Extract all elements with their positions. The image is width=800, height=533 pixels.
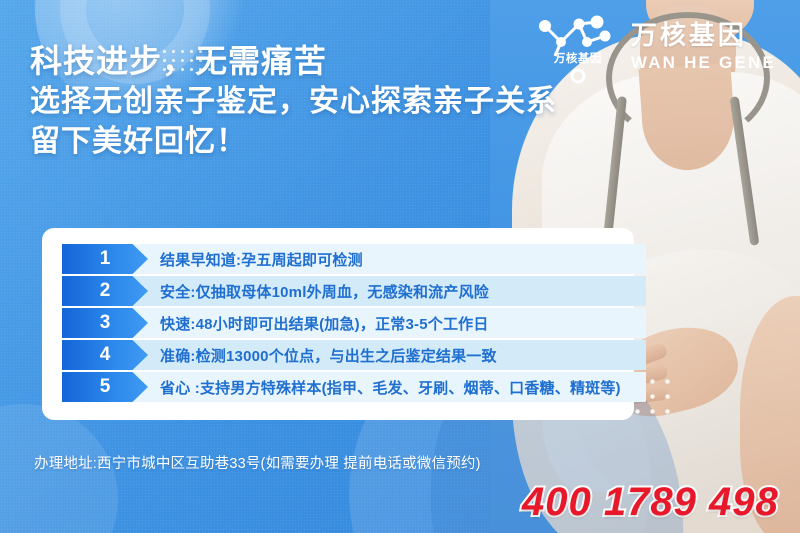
features-card: 1 结果早知道:孕五周起即可检测 2 安全:仅抽取母体10ml外周血，无感染和流… bbox=[42, 228, 634, 420]
logo-mark-label: 万核基因 bbox=[535, 50, 621, 66]
brand-logo[interactable]: 万核基因 万核基因 WAN HE GENE bbox=[535, 10, 776, 82]
headline-block: 科技进步，无需痛苦 选择无创亲子鉴定，安心探索亲子关系 留下美好回忆！ bbox=[30, 40, 557, 161]
headline-line-3: 留下美好回忆！ bbox=[30, 122, 557, 162]
list-item: 5 省心 :支持男方特殊样本(指甲、毛发、牙刷、烟蒂、口香糖、精斑等) bbox=[62, 372, 614, 402]
list-item: 2 安全:仅抽取母体10ml外周血，无感染和流产风险 bbox=[62, 276, 614, 306]
feature-number-badge: 2 bbox=[62, 276, 148, 306]
feature-number-badge: 3 bbox=[62, 308, 148, 338]
features-list: 1 结果早知道:孕五周起即可检测 2 安全:仅抽取母体10ml外周血，无感染和流… bbox=[62, 244, 614, 404]
feature-text: 省心 :支持男方特殊样本(指甲、毛发、牙刷、烟蒂、口香糖、精斑等) bbox=[160, 377, 621, 398]
list-item: 1 结果早知道:孕五周起即可检测 bbox=[62, 244, 614, 274]
logo-name-en: WAN HE GENE bbox=[631, 54, 776, 71]
hotline-phone-number[interactable]: 400 1789 498 bbox=[522, 480, 779, 525]
headline-line-2: 选择无创亲子鉴定，安心探索亲子关系 bbox=[30, 82, 557, 122]
logo-name-cn: 万核基因 bbox=[631, 22, 747, 48]
feature-number-badge: 5 bbox=[62, 372, 148, 402]
feature-number-badge: 1 bbox=[62, 244, 148, 274]
feature-number-badge: 4 bbox=[62, 340, 148, 370]
feature-text: 快速:48小时即可出结果(加急)，正常3-5个工作日 bbox=[160, 313, 489, 334]
office-address: 办理地址:西宁市城中区互助巷33号(如需要办理 提前电话或微信预约) bbox=[34, 452, 481, 473]
promo-banner: 万核基因 万核基因 WAN HE GENE 科技进步，无需痛苦 选择无创亲子鉴定… bbox=[0, 0, 800, 533]
headline-line-1: 科技进步，无需痛苦 bbox=[30, 40, 557, 82]
dna-molecule-icon: 万核基因 bbox=[535, 10, 621, 82]
list-item: 3 快速:48小时即可出结果(加急)，正常3-5个工作日 bbox=[62, 308, 614, 338]
logo-wordmark: 万核基因 WAN HE GENE bbox=[631, 22, 776, 71]
feature-text: 准确:检测13000个位点，与出生之后鉴定结果一致 bbox=[160, 345, 497, 366]
feature-text: 结果早知道:孕五周起即可检测 bbox=[160, 249, 363, 270]
list-item: 4 准确:检测13000个位点，与出生之后鉴定结果一致 bbox=[62, 340, 614, 370]
feature-text: 安全:仅抽取母体10ml外周血，无感染和流产风险 bbox=[160, 281, 489, 302]
